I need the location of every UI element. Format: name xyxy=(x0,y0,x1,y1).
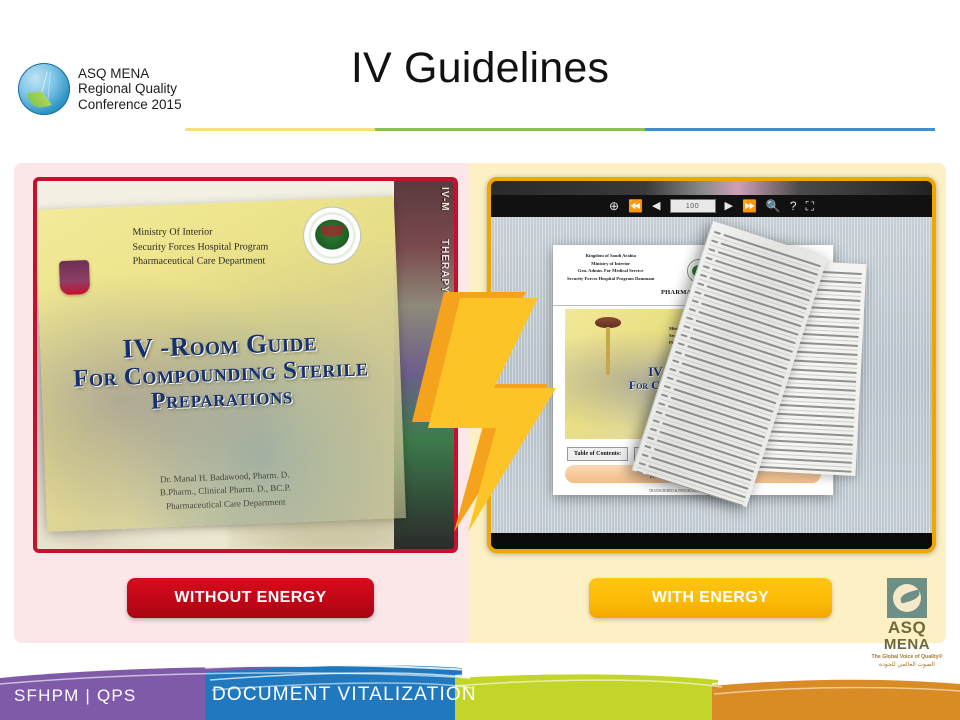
asq-mena-logo: ASQ MENA The Global Voice of Quality® ال… xyxy=(864,578,950,664)
poster-ministry-block: Ministry Of Interior Security Forces Hos… xyxy=(132,225,268,269)
poster-board: Ministry Of Interior Security Forces Hos… xyxy=(37,196,406,532)
last-page-icon[interactable]: ⏩ xyxy=(742,200,757,212)
asq-logo-name-1: ASQ xyxy=(864,619,950,637)
footer-graphic xyxy=(0,662,960,720)
photo-background: IV-M THERAPY IV-M Ministry Of Interior S… xyxy=(37,181,454,549)
divider-segment-blue xyxy=(645,128,935,131)
with-energy-button[interactable]: WITH ENERGY xyxy=(589,578,832,618)
poster-ministry-line-2: Security Forces Hospital Program xyxy=(132,240,268,255)
slide-canvas: ASQ MENA Regional Quality Conference 201… xyxy=(0,0,960,720)
poster-ministry-line-1: Ministry Of Interior xyxy=(132,225,268,240)
footer-label-document-vitalization: DOCUMENT VITALIZATION xyxy=(212,684,477,706)
lightning-bolt-icon xyxy=(398,288,558,536)
footer-label-sfhpm-qps: SFHPM | QPS xyxy=(14,686,136,706)
help-icon[interactable]: ? xyxy=(790,200,797,212)
without-energy-button[interactable]: WITHOUT ENERGY xyxy=(127,578,374,618)
toc-label: Table of Contents: xyxy=(567,447,628,461)
viewer-titlebar xyxy=(491,181,932,195)
poster-title: IV -Room Guide For Compounding Sterile P… xyxy=(40,324,402,420)
zoom-in-icon[interactable]: ⊕ xyxy=(609,200,619,212)
footer-band: SFHPM | QPS DOCUMENT VITALIZATION xyxy=(0,662,960,720)
footer-segment-orange xyxy=(712,680,960,720)
footer-segment-green xyxy=(455,674,718,720)
book-cover-photo[interactable]: IV-M THERAPY IV-M Ministry Of Interior S… xyxy=(33,177,458,553)
hospital-badge-icon xyxy=(59,260,90,295)
next-page-icon[interactable]: ▶ xyxy=(725,201,733,212)
doc-hdr-line-4: Security Forces Hospital Program Dammam xyxy=(567,275,654,283)
binder-label-2: THERAPY xyxy=(439,239,450,294)
document-header-text: Kingdom of Saudi Arabia Ministry of Inte… xyxy=(567,252,654,282)
doc-hdr-line-3: Gen. Admin. For Medical Service xyxy=(567,267,654,275)
doc-hdr-line-2: Ministry of Interior xyxy=(567,260,654,268)
viewer-toolbar[interactable]: ⊕ ⏪ ◀ 100 ▶ ⏩ 🔍 ? ⛶ xyxy=(491,195,932,217)
asq-logo-name-2: MENA xyxy=(864,637,950,653)
binder-label-1: IV-M xyxy=(439,187,450,212)
doc-hdr-line-1: Kingdom of Saudi Arabia xyxy=(567,252,654,260)
poster-ministry-line-3: Pharmaceutical Care Department xyxy=(133,254,269,269)
search-icon[interactable]: 🔍 xyxy=(766,200,781,212)
asq-q-mark-icon xyxy=(887,578,927,618)
first-page-icon[interactable]: ⏪ xyxy=(628,200,643,212)
page-title: IV Guidelines xyxy=(0,44,960,93)
divider-segment-yellow xyxy=(185,128,375,131)
page-number-input[interactable]: 100 xyxy=(670,199,716,213)
fullscreen-icon[interactable]: ⛶ xyxy=(806,200,814,212)
conference-logo-line-3: Conference 2015 xyxy=(78,97,182,112)
divider-segment-green xyxy=(375,128,645,131)
asq-logo-tagline: The Global Voice of Quality® xyxy=(864,654,950,662)
previous-page-icon[interactable]: ◀ xyxy=(652,201,660,212)
